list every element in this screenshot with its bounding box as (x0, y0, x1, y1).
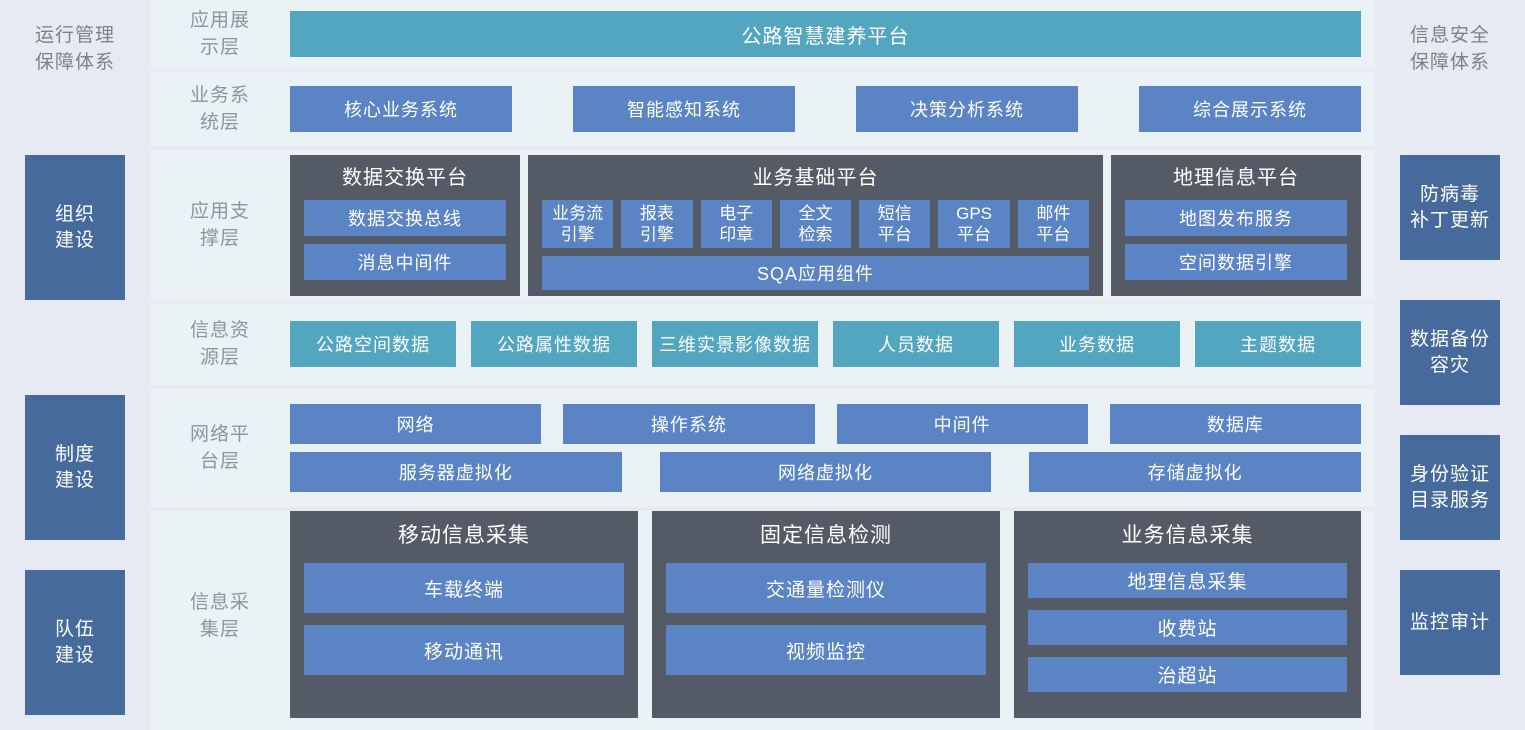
business-system-list: 核心业务系统 智能感知系统 决策分析系统 综合展示系统 (290, 86, 1361, 132)
box-vehicle-terminal[interactable]: 车载终端 (304, 563, 624, 613)
engine-electronic-seal[interactable]: 电子 印章 (701, 200, 772, 248)
base-platform-engine-list: 业务流 引擎 报表 引擎 电子 印章 全文 检索 短信 平台 GPS 平台 邮件… (542, 200, 1089, 248)
layer-row-network-platform: 网络平 台层 网络 操作系统 中间件 数据库 服务器虚拟化 网络虚拟化 存储虚拟… (150, 389, 1375, 508)
panel-body-data-exchange-platform: 数据交换总线 消息中间件 (304, 200, 506, 282)
resource-thematic-data[interactable]: 主题数据 (1195, 321, 1361, 367)
layer-label-network-platform: 网络平 台层 (150, 421, 290, 475)
network-virtualization-list: 服务器虚拟化 网络虚拟化 存储虚拟化 (290, 452, 1361, 492)
right-pillar-block-data-backup[interactable]: 数据备份 容灾 (1400, 300, 1500, 405)
box-traffic-volume-detector[interactable]: 交通量检测仪 (666, 563, 986, 613)
box-geographic-information-collection[interactable]: 地理信息采集 (1028, 563, 1347, 598)
network-item-database[interactable]: 数据库 (1110, 404, 1361, 444)
right-pillar-block-list: 防病毒 补丁更新 数据备份 容灾 身份验证 目录服务 监控审计 (1400, 0, 1500, 730)
box-message-middleware[interactable]: 消息中间件 (304, 244, 506, 280)
network-item-network[interactable]: 网络 (290, 404, 541, 444)
layer-body-information-collection: 移动信息采集 车载终端 移动通讯 固定信息检测 交通量检测仪 视频监控 业务信息… (290, 511, 1375, 718)
resource-highway-spatial-data[interactable]: 公路空间数据 (290, 321, 456, 367)
resource-highway-attribute-data[interactable]: 公路属性数据 (471, 321, 637, 367)
panel-data-exchange-platform: 数据交换平台 数据交换总线 消息中间件 (290, 155, 520, 296)
layer-row-information-collection: 信息采 集层 移动信息采集 车载终端 移动通讯 固定信息检测 交通量检测仪 视频… (150, 511, 1375, 730)
right-pillar-information-security: 信息安全 保障体系 防病毒 补丁更新 数据备份 容灾 身份验证 目录服务 监控审… (1375, 0, 1525, 730)
box-data-exchange-bus[interactable]: 数据交换总线 (304, 200, 506, 236)
layer-row-application-support: 应用支 撑层 数据交换平台 数据交换总线 消息中间件 业务基础平台 (150, 150, 1375, 299)
panel-title-mobile-information-collection: 移动信息采集 (304, 521, 624, 551)
resource-personnel-data[interactable]: 人员数据 (833, 321, 999, 367)
center-layers: 应用展 示层 公路智慧建养平台 业务系 统层 核心业务系统 智能感知系统 决策分… (150, 0, 1375, 730)
engine-gps-platform[interactable]: GPS 平台 (938, 200, 1009, 248)
panel-title-geographic-information-platform: 地理信息平台 (1125, 163, 1347, 193)
right-pillar-block-identity-directory[interactable]: 身份验证 目录服务 (1400, 435, 1500, 540)
engine-mail-platform[interactable]: 邮件 平台 (1018, 200, 1089, 248)
layer-row-business-system: 业务系 统层 核心业务系统 智能感知系统 决策分析系统 综合展示系统 (150, 72, 1375, 146)
engine-fulltext-search[interactable]: 全文 检索 (780, 200, 851, 248)
business-system-integrated-display[interactable]: 综合展示系统 (1139, 86, 1361, 132)
box-sqa-application-component[interactable]: SQA应用组件 (542, 256, 1089, 290)
layer-body-application-display: 公路智慧建养平台 (290, 11, 1375, 57)
virtualization-storage[interactable]: 存储虚拟化 (1029, 452, 1361, 492)
panel-title-data-exchange-platform: 数据交换平台 (304, 163, 506, 193)
virtualization-server[interactable]: 服务器虚拟化 (290, 452, 622, 492)
layer-body-information-resource: 公路空间数据 公路属性数据 三维实景影像数据 人员数据 业务数据 主题数据 (290, 321, 1375, 367)
layer-body-business-system: 核心业务系统 智能感知系统 决策分析系统 综合展示系统 (290, 86, 1375, 132)
network-item-operating-system[interactable]: 操作系统 (563, 404, 814, 444)
layer-row-information-resource: 信息资 源层 公路空间数据 公路属性数据 三维实景影像数据 人员数据 业务数据 … (150, 304, 1375, 385)
layer-label-business-system: 业务系 统层 (150, 82, 290, 136)
architecture-diagram: 运行管理 保障体系 组织 建设 制度 建设 队伍 建设 应用展 示层 公路智慧建… (0, 0, 1525, 730)
box-video-surveillance[interactable]: 视频监控 (666, 625, 986, 675)
panel-business-information-collection: 业务信息采集 地理信息采集 收费站 治超站 (1014, 511, 1361, 718)
collection-panel-group: 移动信息采集 车载终端 移动通讯 固定信息检测 交通量检测仪 视频监控 业务信息… (290, 511, 1361, 718)
left-pillar-block-organization[interactable]: 组织 建设 (25, 155, 125, 300)
layer-body-network-platform: 网络 操作系统 中间件 数据库 服务器虚拟化 网络虚拟化 存储虚拟化 (290, 404, 1375, 492)
information-resource-list: 公路空间数据 公路属性数据 三维实景影像数据 人员数据 业务数据 主题数据 (290, 321, 1361, 367)
panel-title-business-base-platform: 业务基础平台 (542, 163, 1089, 193)
left-pillar-block-list: 组织 建设 制度 建设 队伍 建设 (25, 0, 125, 730)
panel-geographic-information-platform: 地理信息平台 地图发布服务 空间数据引擎 (1111, 155, 1361, 296)
engine-workflow[interactable]: 业务流 引擎 (542, 200, 613, 248)
panel-body-geographic-information-platform: 地图发布服务 空间数据引擎 (1125, 200, 1347, 282)
layer-row-application-display: 应用展 示层 公路智慧建养平台 (150, 0, 1375, 68)
panel-body-business-base-platform: 业务流 引擎 报表 引擎 电子 印章 全文 检索 短信 平台 GPS 平台 邮件… (542, 200, 1089, 290)
box-overload-control-station[interactable]: 治超站 (1028, 657, 1347, 692)
business-system-core[interactable]: 核心业务系统 (290, 86, 512, 132)
virtualization-network[interactable]: 网络虚拟化 (660, 452, 992, 492)
box-toll-station[interactable]: 收费站 (1028, 610, 1347, 645)
network-item-middleware[interactable]: 中间件 (837, 404, 1088, 444)
right-pillar-block-antivirus-patch[interactable]: 防病毒 补丁更新 (1400, 155, 1500, 260)
network-platform-groups: 网络 操作系统 中间件 数据库 服务器虚拟化 网络虚拟化 存储虚拟化 (290, 404, 1361, 492)
box-map-publishing-service[interactable]: 地图发布服务 (1125, 200, 1347, 236)
panel-title-fixed-information-detection: 固定信息检测 (666, 521, 986, 551)
resource-business-data[interactable]: 业务数据 (1014, 321, 1180, 367)
engine-report[interactable]: 报表 引擎 (621, 200, 692, 248)
left-pillar-operations-management: 运行管理 保障体系 组织 建设 制度 建设 队伍 建设 (0, 0, 150, 730)
box-spatial-data-engine[interactable]: 空间数据引擎 (1125, 244, 1347, 280)
layer-body-application-support: 数据交换平台 数据交换总线 消息中间件 业务基础平台 业务流 引擎 报表 引擎 (290, 155, 1375, 296)
box-mobile-communication[interactable]: 移动通讯 (304, 625, 624, 675)
layer-label-application-display: 应用展 示层 (150, 7, 290, 61)
left-pillar-block-team[interactable]: 队伍 建设 (25, 570, 125, 715)
layer-label-application-support: 应用支 撑层 (150, 198, 290, 252)
panel-fixed-information-detection: 固定信息检测 交通量检测仪 视频监控 (652, 511, 1000, 718)
right-pillar-block-monitoring-audit[interactable]: 监控审计 (1400, 570, 1500, 675)
layer-label-information-collection: 信息采 集层 (150, 589, 290, 643)
panel-business-base-platform: 业务基础平台 业务流 引擎 报表 引擎 电子 印章 全文 检索 短信 平台 GP… (528, 155, 1103, 296)
engine-sms-platform[interactable]: 短信 平台 (859, 200, 930, 248)
support-panel-group: 数据交换平台 数据交换总线 消息中间件 业务基础平台 业务流 引擎 报表 引擎 (290, 155, 1361, 296)
left-pillar-block-institution[interactable]: 制度 建设 (25, 395, 125, 540)
network-infrastructure-list: 网络 操作系统 中间件 数据库 (290, 404, 1361, 444)
panel-mobile-information-collection: 移动信息采集 车载终端 移动通讯 (290, 511, 638, 718)
layer-label-information-resource: 信息资 源层 (150, 317, 290, 371)
business-system-intelligent-sensing[interactable]: 智能感知系统 (573, 86, 795, 132)
panel-title-business-information-collection: 业务信息采集 (1028, 521, 1347, 551)
resource-3d-realistic-image-data[interactable]: 三维实景影像数据 (652, 321, 818, 367)
business-system-decision-analysis[interactable]: 决策分析系统 (856, 86, 1078, 132)
platform-banner-highway-smart-maintenance[interactable]: 公路智慧建养平台 (290, 11, 1361, 57)
